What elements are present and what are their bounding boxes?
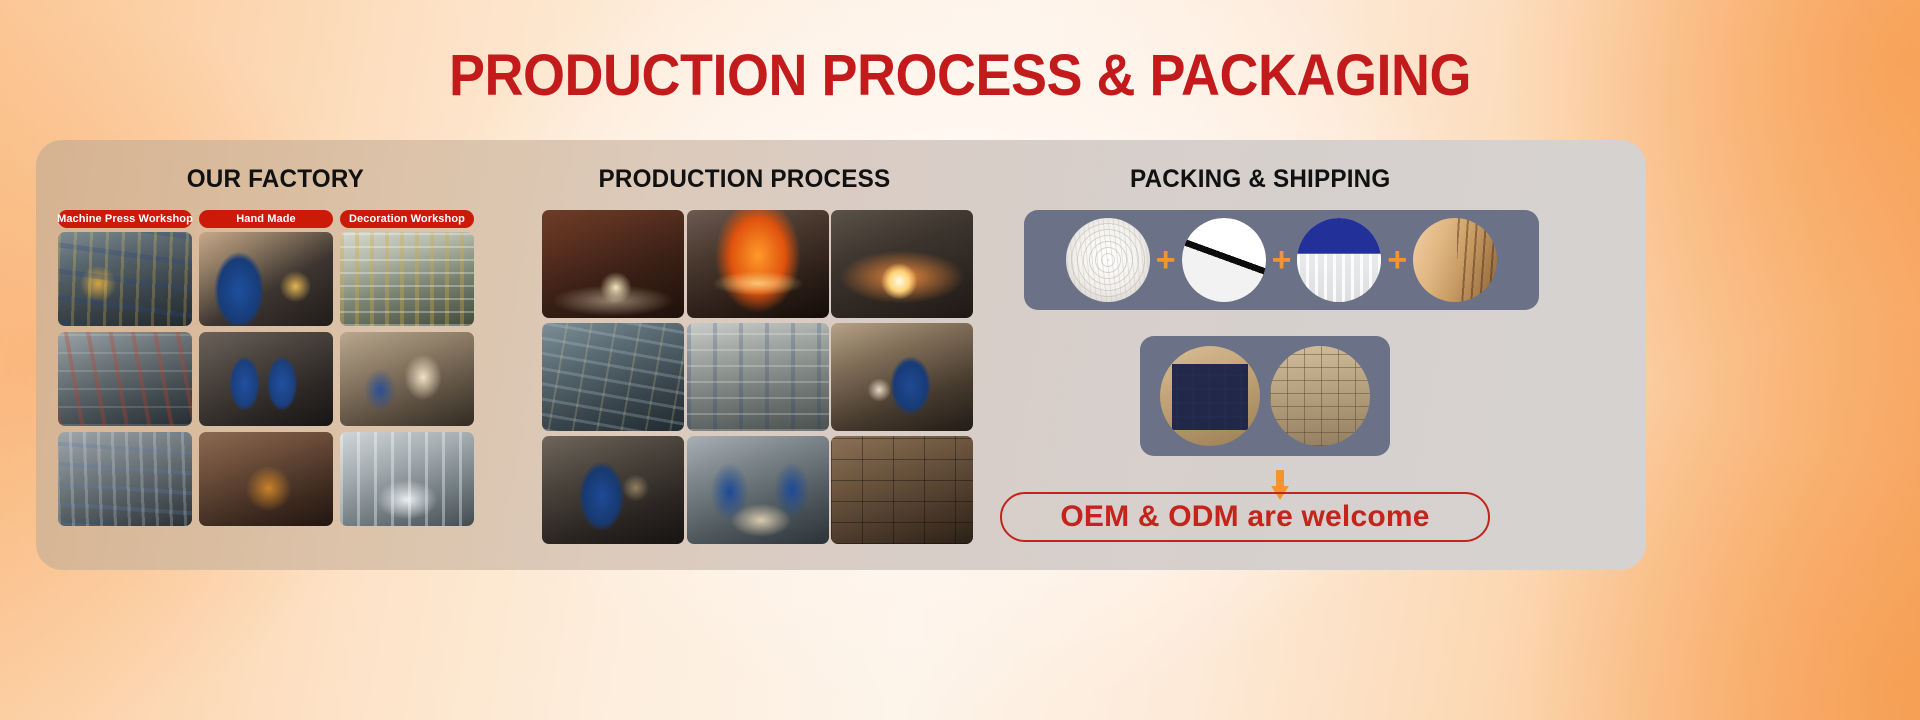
factory-photo-machine-press-line	[58, 232, 192, 326]
foam-sheets-icon	[1182, 218, 1266, 302]
section-heading-our-factory: OUR FACTORY	[187, 165, 364, 194]
oem-odm-text: OEM & ODM are welcome	[1060, 500, 1429, 534]
factory-photo-artisan-hand-painting	[340, 332, 474, 426]
process-photo-raw-material-furnace	[542, 210, 684, 318]
plus-separator-2: +	[1272, 243, 1292, 277]
corrugated-carton-icon	[1413, 218, 1497, 302]
factory-photo-assembly-conveyor-line	[58, 432, 192, 526]
shipping-result-group	[1140, 336, 1390, 456]
badge-hand-made: Hand Made	[199, 210, 333, 228]
factory-photo-kiln-loading	[199, 432, 333, 526]
process-photo-molten-gob-pressing	[831, 210, 973, 318]
page-title: PRODUCTION PROCESS & PACKAGING	[67, 46, 1853, 107]
process-photo-quality-inspection-worker	[542, 436, 684, 544]
plus-separator-3: +	[1387, 243, 1407, 277]
factory-photo-decoration-workshop-painting	[340, 232, 474, 326]
promotional-banner-page: PRODUCTION PROCESS & PACKAGING OUR FACTO…	[0, 0, 1920, 720]
badge-machine-press-workshop: Machine Press Workshop	[58, 210, 192, 228]
plus-separator-1: +	[1156, 243, 1176, 277]
lace-paper-liner-icon	[1066, 218, 1150, 302]
process-photo-hand-decoration-artisan	[831, 323, 973, 431]
section-heading-packing-shipping: PACKING & SHIPPING	[1130, 165, 1390, 194]
process-photo-factory-inspection-floor	[687, 323, 829, 431]
badge-decoration-workshop: Decoration Workshop	[340, 210, 474, 228]
factory-photo-robotic-press-machines	[58, 332, 192, 426]
inner-tray-display-box-icon	[1297, 218, 1381, 302]
packed-master-carton-icon	[1160, 346, 1260, 446]
packing-materials-group: + + +	[1024, 210, 1539, 310]
loaded-container-icon	[1270, 346, 1370, 446]
process-photo-annealing-pipework	[542, 323, 684, 431]
factory-photo-workers-at-furnace	[199, 332, 333, 426]
factory-photo-hand-made-glassblowing	[199, 232, 333, 326]
process-photo-glowing-molten-column	[687, 210, 829, 318]
factory-photo-glass-ware-racks	[340, 432, 474, 526]
oem-odm-banner: OEM & ODM are welcome	[1000, 492, 1490, 542]
process-photo-stacked-carton-wall	[831, 436, 973, 544]
section-heading-production-process: PRODUCTION PROCESS	[599, 165, 891, 194]
process-photo-packing-into-cartons	[687, 436, 829, 544]
